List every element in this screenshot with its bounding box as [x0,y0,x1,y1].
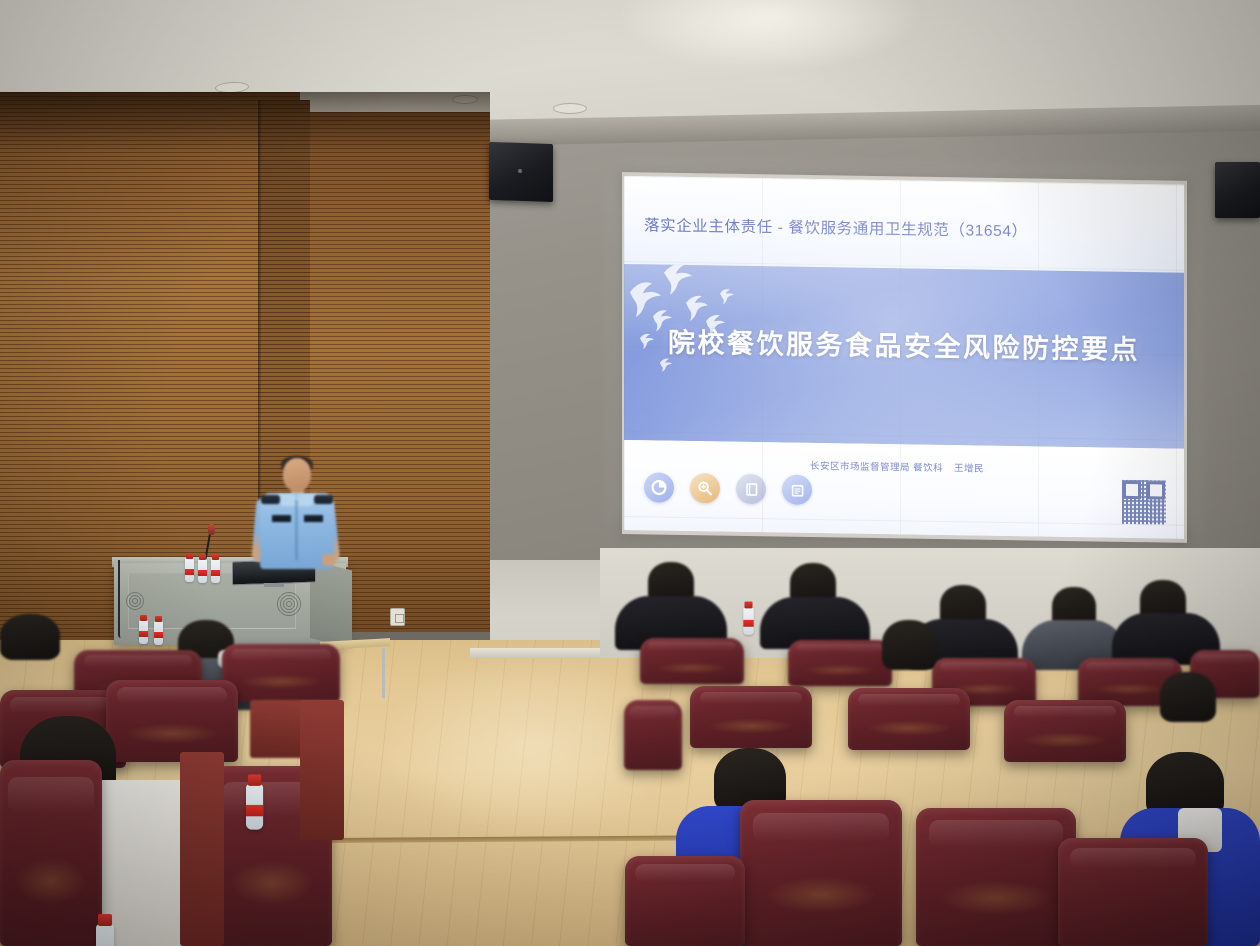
uniform-badge [304,515,323,522]
auditorium-photo: 落实企业主体责任 - 餐饮服务通用卫生规范（31654） 院校餐饮服务食品安全风… [0,0,1260,946]
auditorium-seat [848,688,970,750]
book-icon [736,474,766,504]
seat-embroidery [124,723,219,744]
water-bottle [185,558,194,582]
podium-side-panel [310,560,352,648]
audience-head [882,620,936,670]
wall-speaker-icon [1215,162,1260,218]
seat-embroidery [655,662,730,674]
auditorium-seat [1058,838,1208,946]
ceiling-light-icon [553,103,587,114]
seat-embroidery [1093,683,1168,695]
seat-embroidery [239,674,324,689]
podium-speaker-grille-icon [126,592,144,610]
water-bottle [96,924,114,946]
auditorium-seat [0,760,102,946]
presenter [252,458,338,568]
slide-footer-icon-row [644,472,812,505]
slide-main-title: 院校餐饮服务食品安全风险防控要点 [624,320,1184,368]
uniform-epaulette [314,495,333,504]
seat-embroidery [938,880,1053,916]
magnifier-icon [690,473,720,503]
projected-slide: 落实企业主体责任 - 餐饮服务通用卫生规范（31654） 院校餐饮服务食品安全风… [624,176,1184,539]
auditorium-seat [625,856,745,946]
auditorium-seat [788,640,892,686]
slide-header-title: 落实企业主体责任 - 餐饮服务通用卫生规范（31654） [644,213,1028,241]
auditorium-seat [916,808,1076,946]
auditorium-seat [740,800,902,946]
cable [118,560,121,638]
ceiling-glare [620,0,920,70]
auditorium-seat [106,680,238,762]
uniform-badge [272,515,291,522]
water-bottle [198,559,207,583]
auditorium-seat [624,700,682,770]
seat-embroidery [865,720,953,736]
slide-title-band: 院校餐饮服务食品安全风险防控要点 [624,264,1184,449]
seat-embroidery [803,664,878,676]
seat-embroidery [1021,732,1109,748]
presenter-hand [322,554,336,566]
water-bottle [211,559,220,583]
audience-head [1160,672,1216,722]
auditorium-seat [222,644,340,702]
slide-header: 落实企业主体责任 - 餐饮服务通用卫生规范（31654） [624,176,1184,273]
auditorium-seat [690,686,812,748]
seat-embroidery [707,718,795,734]
auditorium-seat [1004,700,1126,762]
slide-footer-organization: 长安区市场监督管理局 餐饮科 [810,458,943,474]
wall-shadow [0,92,490,152]
podium-speaker-grille-icon [276,591,302,617]
water-bottle [154,621,163,645]
slide-footer-presenter: 王增民 [954,460,984,474]
slide-footer: 长安区市场监督管理局 餐饮科 王增民 [624,440,1184,539]
monitor-stand [264,583,284,587]
seat-back-frame [300,700,344,840]
seat-embroidery [229,860,315,907]
table-leg [382,648,385,698]
uniform-epaulette [261,495,280,504]
auditorium-seat [640,638,744,684]
wall-outlet-icon [390,608,405,626]
speaker-led-icon [518,169,522,173]
seat-embroidery [763,876,880,914]
water-bottle [139,620,148,644]
wall-speaker-icon [489,142,553,202]
pie-chart-icon [644,472,674,502]
notepad-icon [782,474,812,504]
seat-embroidery [14,857,87,905]
qr-code [1122,480,1166,525]
uniform-placket [295,500,298,560]
water-bottle [743,607,753,635]
audience-head [0,614,60,660]
seat-back-frame [180,752,224,946]
water-bottle [246,784,263,830]
microphone-icon [208,524,215,535]
